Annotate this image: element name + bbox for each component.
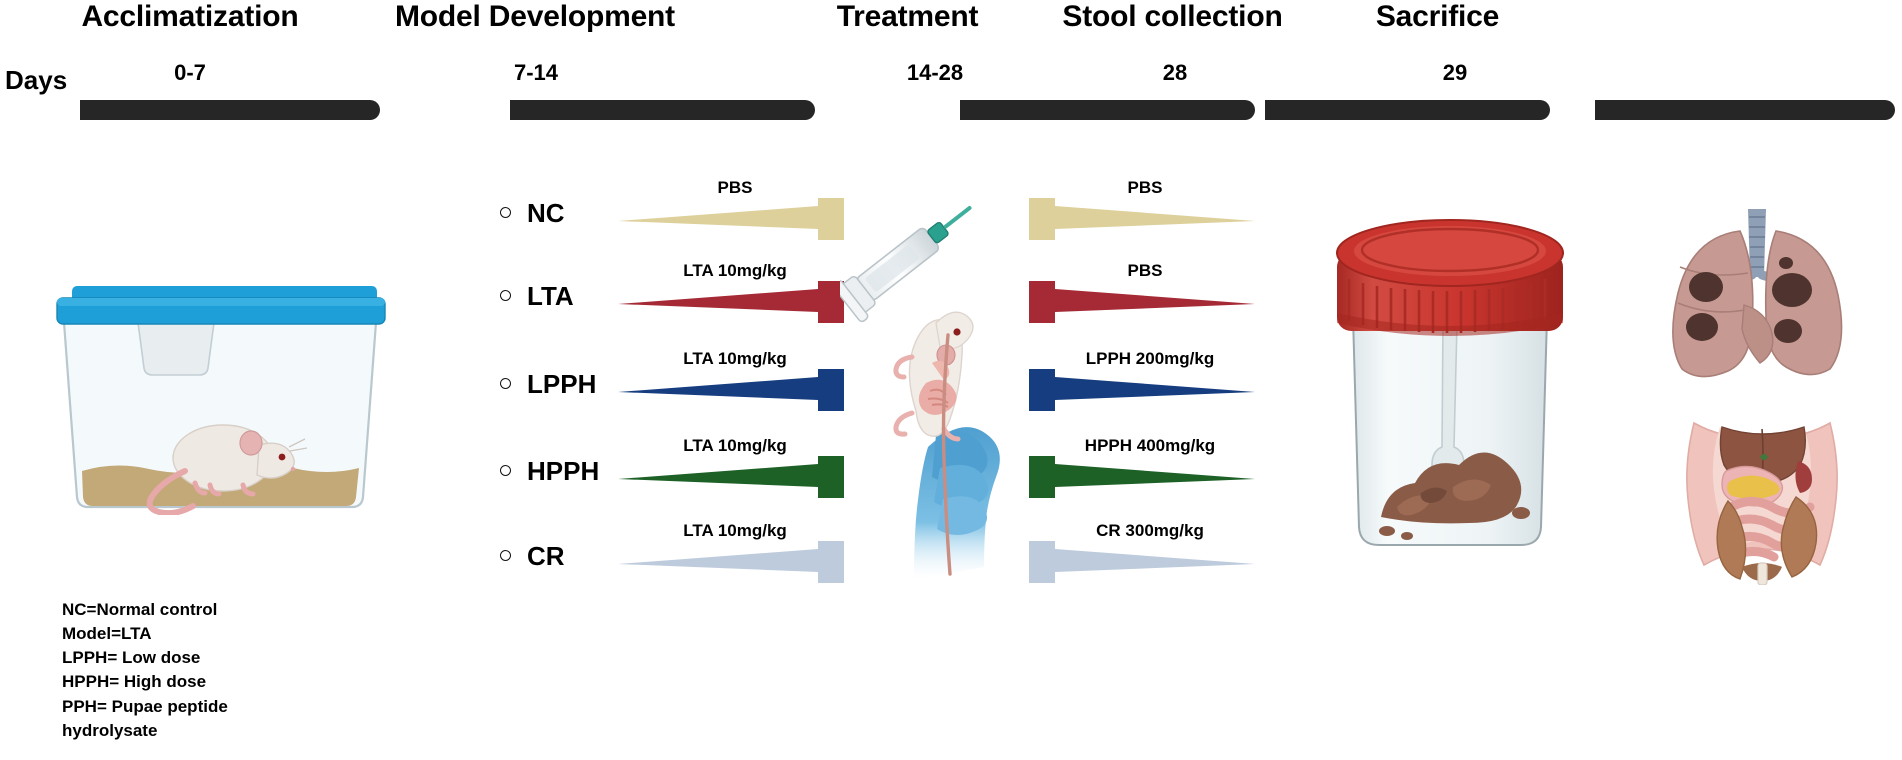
model-arrow-label-lpph: LTA 10mg/kg <box>620 349 850 369</box>
phase-title-sacrifice: Sacrifice <box>1330 0 1545 34</box>
group-bullet-nc <box>500 207 511 218</box>
syringe-glyph <box>840 188 986 323</box>
group-bullet-hpph <box>500 465 511 476</box>
legend-line-5: hydrolysate <box>62 719 228 743</box>
day-range-model-development: 7-14 <box>390 60 682 86</box>
experimental-timeline-figure: Acclimatization Model Development Treatm… <box>0 0 1902 760</box>
day-range-stool-collection: 28 <box>1055 60 1295 86</box>
model-arrow-cr <box>618 541 848 583</box>
days-axis-label: Days <box>5 65 67 96</box>
treatment-arrow-lpph <box>1025 369 1255 411</box>
treatment-arrow-nc <box>1025 198 1255 240</box>
phase-title-acclimatization: Acclimatization <box>55 0 325 34</box>
treatment-arrow-label-nc: PBS <box>1030 178 1260 198</box>
lungs-illustration <box>1640 205 1875 380</box>
treatment-arrow-label-lta: PBS <box>1030 261 1260 281</box>
jar-lid-glyph <box>1337 220 1563 336</box>
group-label-lpph: LPPH <box>527 369 596 400</box>
group-bullet-cr <box>500 550 511 561</box>
model-arrow-nc <box>618 198 848 240</box>
model-arrow-label-cr: LTA 10mg/kg <box>620 521 850 541</box>
model-arrow-hpph <box>618 456 848 498</box>
group-label-hpph: HPPH <box>527 456 599 487</box>
day-range-treatment: 14-28 <box>815 60 1055 86</box>
model-arrow-label-hpph: LTA 10mg/kg <box>620 436 850 456</box>
legend-line-2: LPPH= Low dose <box>62 646 228 670</box>
legend-line-4: PPH= Pupae peptide <box>62 695 228 719</box>
treatment-arrow-label-lpph: LPPH 200mg/kg <box>1030 349 1270 369</box>
timebar-acclimatization <box>80 100 380 120</box>
timebar-treatment <box>960 100 1255 120</box>
timebar-stool-collection <box>1265 100 1550 120</box>
mouse-cage-illustration <box>45 275 395 515</box>
abbreviations-legend: NC=Normal control Model=LTA LPPH= Low do… <box>62 598 228 743</box>
treatment-arrow-hpph <box>1025 456 1255 498</box>
group-label-cr: CR <box>527 541 565 572</box>
legend-line-3: HPPH= High dose <box>62 670 228 694</box>
stool-jar-illustration <box>1325 195 1575 555</box>
phase-title-model-development: Model Development <box>385 0 685 34</box>
model-arrow-label-lta: LTA 10mg/kg <box>620 261 850 281</box>
model-arrow-label-nc: PBS <box>620 178 850 198</box>
timebar-sacrifice <box>1595 100 1895 120</box>
legend-line-0: NC=Normal control <box>62 598 228 622</box>
treatment-arrow-cr <box>1025 541 1255 583</box>
treatment-arrow-lta <box>1025 281 1255 323</box>
phase-title-treatment: Treatment <box>810 0 1005 34</box>
oral-gavage-illustration <box>840 185 1020 580</box>
group-bullet-lta <box>500 290 511 301</box>
model-arrow-lpph <box>618 369 848 411</box>
timebar-model-development <box>510 100 815 120</box>
group-label-nc: NC <box>527 198 565 229</box>
abdominal-viscera-illustration <box>1650 405 1875 585</box>
phase-title-stool-collection: Stool collection <box>1050 0 1295 34</box>
model-arrow-lta <box>618 281 848 323</box>
day-range-acclimatization: 0-7 <box>60 60 320 86</box>
treatment-arrow-label-hpph: HPPH 400mg/kg <box>1030 436 1270 456</box>
legend-line-1: Model=LTA <box>62 622 228 646</box>
group-label-lta: LTA <box>527 281 574 312</box>
day-range-sacrifice: 29 <box>1335 60 1575 86</box>
group-bullet-lpph <box>500 378 511 389</box>
treatment-arrow-label-cr: CR 300mg/kg <box>1030 521 1270 541</box>
